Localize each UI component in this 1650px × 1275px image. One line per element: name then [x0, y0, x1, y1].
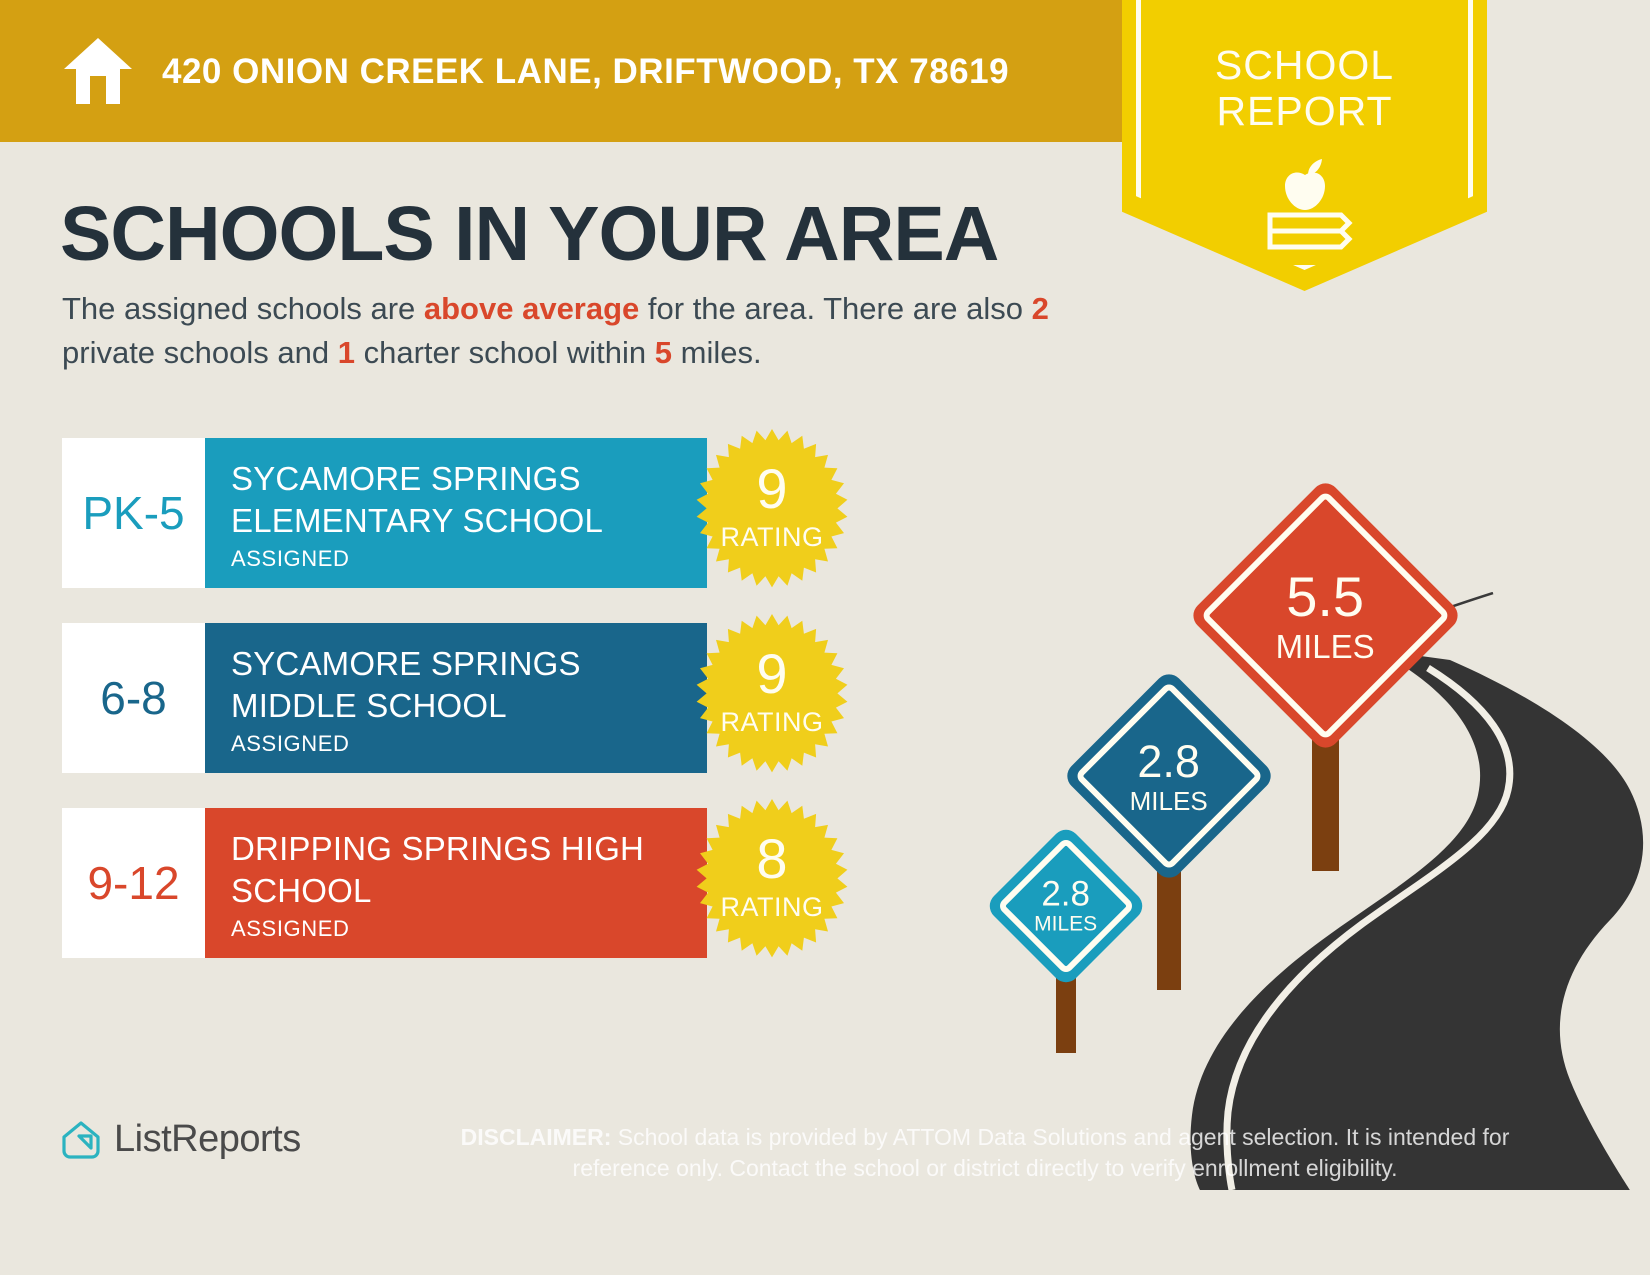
rating-caption: RATING	[686, 522, 858, 553]
disclaimer-body: School data is provided by ATTOM Data So…	[573, 1124, 1510, 1181]
subtitle-highlight-radius: 5	[655, 335, 672, 370]
rating-value: 9	[686, 461, 858, 517]
disclaimer-text: DISCLAIMER: School data is provided by A…	[455, 1122, 1515, 1184]
school-name: SYCAMORE SPRINGS MIDDLE SCHOOL	[231, 643, 701, 727]
grade-range-box: PK-5	[62, 438, 205, 588]
home-icon	[62, 36, 134, 106]
distance-unit: MILES	[1130, 788, 1208, 814]
page-subtitle: The assigned schools are above average f…	[62, 287, 1092, 375]
school-rating-badge: 9 RATING	[686, 612, 858, 784]
rating-caption: RATING	[686, 707, 858, 738]
school-name: SYCAMORE SPRINGS ELEMENTARY SCHOOL	[231, 458, 701, 542]
grade-range-label: 6-8	[100, 671, 166, 725]
school-row[interactable]: 6-8 SYCAMORE SPRINGS MIDDLE SCHOOL ASSIG…	[62, 623, 707, 773]
grade-range-label: PK-5	[82, 486, 184, 540]
distance-value: 2.8	[1034, 877, 1097, 912]
badge-line-1: SCHOOL	[1122, 42, 1487, 88]
disclaimer-label: DISCLAIMER:	[461, 1124, 612, 1150]
grade-range-box: 9-12	[62, 808, 205, 958]
sign-text: 5.5 MILES	[1276, 568, 1375, 662]
property-address: 420 ONION CREEK LANE, DRIFTWOOD, TX 7861…	[162, 52, 1009, 92]
badge-title: SCHOOL REPORT	[1122, 42, 1487, 134]
subtitle-part-5: miles.	[672, 335, 762, 370]
subtitle-highlight-above-average: above average	[424, 291, 639, 326]
sign-text: 2.8 MILES	[1130, 739, 1208, 814]
distance-value: 2.8	[1130, 739, 1208, 784]
school-name: DRIPPING SPRINGS HIGH SCHOOL	[231, 828, 701, 912]
subtitle-part-1: The assigned schools are	[62, 291, 424, 326]
distance-unit: MILES	[1034, 914, 1097, 935]
subtitle-highlight-charter-count: 1	[338, 335, 355, 370]
rating-value: 8	[686, 831, 858, 887]
subtitle-part-4: charter school within	[355, 335, 655, 370]
rating-value: 9	[686, 646, 858, 702]
school-rating-badge: 8 RATING	[686, 797, 858, 969]
school-rating-badge: 9 RATING	[686, 427, 858, 599]
school-status-label: ASSIGNED	[231, 546, 707, 572]
rating-caption: RATING	[686, 892, 858, 923]
apple-on-books-icon	[1248, 155, 1363, 250]
subtitle-part-3: private schools and	[62, 335, 338, 370]
school-row[interactable]: PK-5 SYCAMORE SPRINGS ELEMENTARY SCHOOL …	[62, 438, 707, 588]
school-name-bar: DRIPPING SPRINGS HIGH SCHOOL ASSIGNED	[205, 808, 707, 958]
grade-range-label: 9-12	[87, 856, 179, 910]
school-status-label: ASSIGNED	[231, 731, 707, 757]
listreports-wordmark: ListReports	[114, 1118, 301, 1161]
distance-unit: MILES	[1276, 629, 1375, 662]
subtitle-part-2: for the area. There are also	[639, 291, 1031, 326]
school-report-infographic: 420 ONION CREEK LANE, DRIFTWOOD, TX 7861…	[0, 0, 1650, 1275]
school-name-bar: SYCAMORE SPRINGS MIDDLE SCHOOL ASSIGNED	[205, 623, 707, 773]
distance-value: 5.5	[1276, 568, 1375, 624]
badge-line-2: REPORT	[1122, 88, 1487, 134]
sign-text: 2.8 MILES	[1034, 877, 1097, 935]
listreports-logo[interactable]: ListReports	[60, 1118, 301, 1161]
school-name-bar: SYCAMORE SPRINGS ELEMENTARY SCHOOL ASSIG…	[205, 438, 707, 588]
school-status-label: ASSIGNED	[231, 916, 707, 942]
school-row[interactable]: 9-12 DRIPPING SPRINGS HIGH SCHOOL ASSIGN…	[62, 808, 707, 958]
grade-range-box: 6-8	[62, 623, 205, 773]
subtitle-highlight-private-count: 2	[1032, 291, 1049, 326]
listreports-house-icon	[60, 1119, 102, 1161]
page-title: SCHOOLS IN YOUR AREA	[60, 192, 998, 276]
